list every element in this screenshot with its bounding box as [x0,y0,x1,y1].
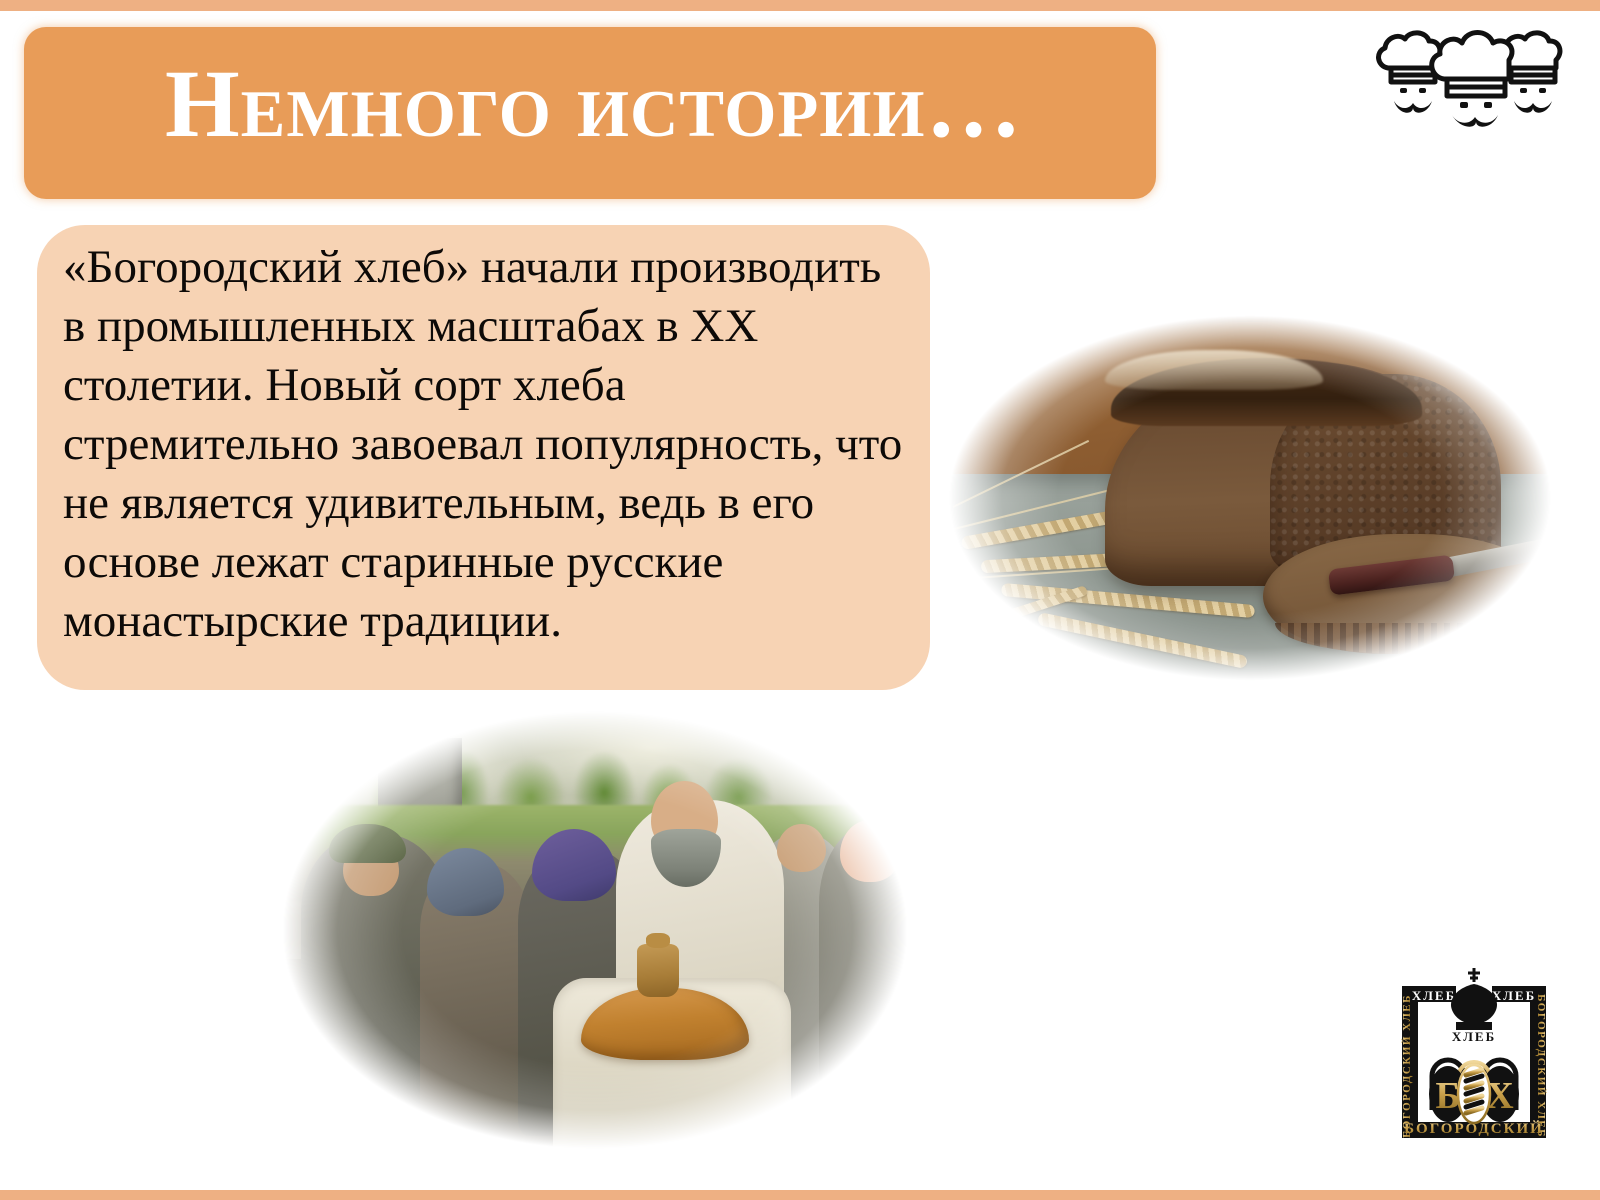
painting-canvas [245,690,945,1170]
body-paragraph: «Богородский хлеб» начали производить в … [63,238,903,651]
page-title: Немного истории… [165,52,1145,156]
bread-and-salt-painting [245,690,945,1170]
svg-text:ХЛЕБ: ХЛЕБ [1452,1029,1496,1044]
bread-photo-canvas [920,298,1580,698]
top-accent-band [0,0,1600,11]
rye-bread-photo [920,298,1580,698]
painting-head-6 [840,820,900,882]
painting-salt-cellar [637,944,679,997]
presentation-slide: Немного истории… [0,0,1600,1200]
svg-text:ХЛЕБ: ХЛЕБ [1412,988,1456,1003]
bogorodsky-hleb-logo: БОГОРОДСКИЙ ХЛЕБ БОГОРОДСКИЙ ХЛЕБ ХЛЕБ Х… [1370,948,1578,1156]
svg-text:БОГОРОДСКИЙ ХЛЕБ: БОГОРОДСКИЙ ХЛЕБ [1401,994,1413,1138]
three-chef-hats-icon [1372,22,1572,128]
svg-text:ХЛЕБ: ХЛЕБ [1492,988,1536,1003]
painting-head-5 [777,824,826,872]
svg-text:БОГОРОДСКИЙ ХЛЕБ: БОГОРОДСКИЙ ХЛЕБ [1535,994,1547,1138]
bottom-accent-band [0,1190,1600,1200]
